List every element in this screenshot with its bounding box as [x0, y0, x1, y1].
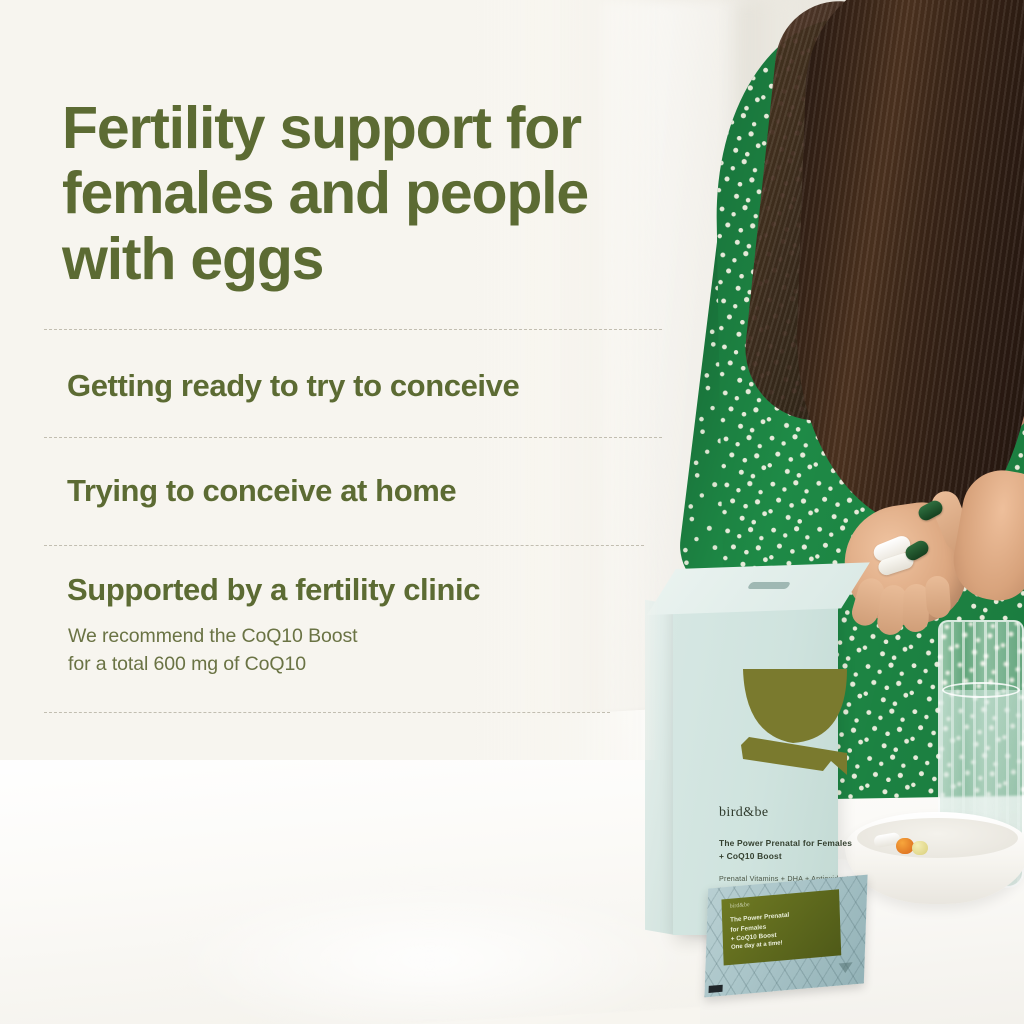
birdandbe-logo-icon [735, 635, 855, 775]
sachet-tear-notch [709, 985, 723, 993]
page-title: Fertility support for females and people… [62, 96, 682, 292]
finger [925, 575, 952, 619]
list-item-title-1: Getting ready to try to conceive [67, 368, 519, 404]
model-hair [790, 0, 1024, 534]
box-product-title: The Power Prenatal for Females + CoQ10 B… [719, 837, 859, 863]
bowl-yellow-softgel [912, 841, 928, 855]
list-item-title-2: Trying to conceive at home [67, 473, 456, 509]
daily-sachet: bird&be The Power Prenatal for Females +… [704, 875, 867, 998]
divider-2 [44, 545, 644, 546]
counter-highlight [160, 880, 700, 1024]
sachet-product-title: The Power Prenatal for Females + CoQ10 B… [730, 907, 835, 945]
sachet-label-panel: bird&be The Power Prenatal for Females +… [721, 889, 841, 965]
glass-waterline [942, 682, 1020, 698]
sachet-brand-name: bird&be [730, 902, 750, 910]
box-left-panel [645, 600, 675, 935]
divider-bottom [44, 712, 610, 713]
box-brand-name: bird&be [719, 805, 768, 821]
divider-top [44, 329, 662, 330]
list-item-subtext-3: We recommend the CoQ10 Boost for a total… [68, 622, 488, 679]
box-dispenser-slot [747, 582, 791, 589]
arrow-icon [838, 962, 852, 973]
list-item-title-3: Supported by a fertility clinic [67, 572, 480, 608]
divider-1 [44, 437, 662, 438]
promo-image-root: bird&be The Power Prenatal for Females +… [0, 0, 1024, 1024]
